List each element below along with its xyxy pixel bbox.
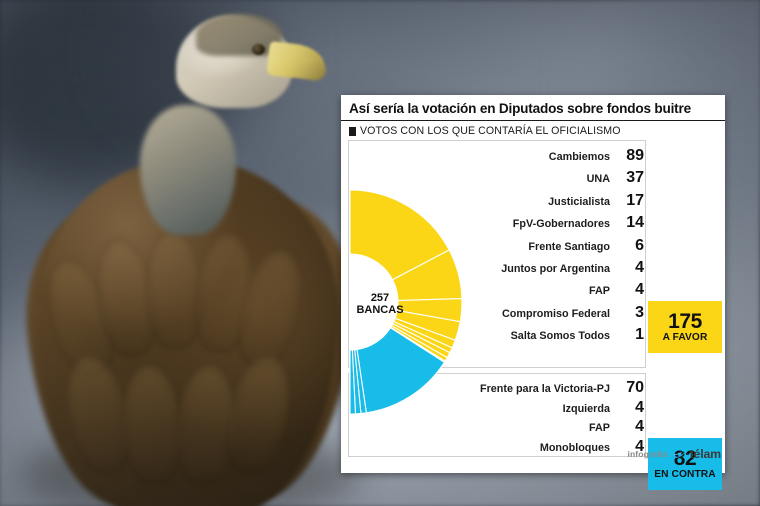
result-contra-label: EN CONTRA	[654, 470, 715, 480]
result-favor-value: 175	[668, 311, 702, 332]
legend-row-label: Frente para la Victoria-PJ	[480, 383, 610, 395]
legend-row-value: 4	[610, 418, 644, 436]
legend-row: Cambiemos89	[422, 147, 644, 169]
legend-row: FpV-Gobernadores14	[422, 214, 644, 236]
legend-row-value: 14	[610, 214, 644, 232]
footer-credit: infografía télam	[627, 447, 721, 461]
legend-row: UNA37	[422, 169, 644, 191]
legend-row-label: UNA	[587, 173, 610, 185]
legend-row-value: 70	[610, 379, 644, 397]
legend-row-label: FAP	[589, 285, 610, 297]
legend-row: Salta Somos Todos1	[422, 326, 644, 348]
footer-brand-label: télam	[690, 447, 721, 461]
result-box-contra: 82 EN CONTRA	[648, 438, 722, 490]
square-bullet-icon	[349, 127, 356, 136]
legend-row: FAP4	[422, 418, 644, 438]
footer-credit-label: infografía	[627, 449, 667, 459]
legend-list-favor: Cambiemos89UNA37Justicialista17FpV-Gober…	[422, 147, 644, 349]
legend-row-value: 1	[610, 326, 644, 344]
legend-row-value: 4	[610, 259, 644, 277]
result-box-favor: 175 A FAVOR	[648, 301, 722, 353]
result-favor-label: A FAVOR	[663, 333, 708, 343]
legend-row-label: Cambiemos	[549, 151, 610, 163]
legend-row-value: 4	[610, 281, 644, 299]
card-body: 257 BANCAS Cambiemos89UNA37Justicialista…	[341, 140, 725, 463]
legend-row-value: 17	[610, 192, 644, 210]
card-subtitle: VOTOS CON LOS QUE CONTARÍA EL OFICIALISM…	[341, 121, 725, 140]
legend-row-label: Juntos por Argentina	[501, 263, 610, 275]
legend-row: Compromiso Federal3	[422, 304, 644, 326]
legend-row-label: Compromiso Federal	[502, 308, 610, 320]
legend-row: Frente para la Victoria-PJ70	[422, 379, 644, 399]
legend-row-label: Frente Santiago	[528, 241, 610, 253]
page-title: Así sería la votación en Diputados sobre…	[341, 95, 725, 121]
legend-row-label: Justicialista	[548, 196, 610, 208]
legend-row-value: 37	[610, 169, 644, 187]
infographic-card: Así sería la votación en Diputados sobre…	[341, 95, 725, 473]
legend-row: Monobloques4	[422, 438, 644, 458]
legend-row-value: 3	[610, 304, 644, 322]
legend-row-value: 6	[610, 237, 644, 255]
legend-row: FAP4	[422, 281, 644, 303]
legend-row-label: Monobloques	[540, 442, 610, 454]
legend-row-label: FAP	[589, 422, 610, 434]
legend-row-label: Izquierda	[563, 403, 610, 415]
legend-row-label: Salta Somos Todos	[511, 330, 610, 342]
legend-row: Izquierda4	[422, 399, 644, 419]
legend-row: Juntos por Argentina4	[422, 259, 644, 281]
legend-list-contra: Frente para la Victoria-PJ70Izquierda4FA…	[422, 379, 644, 457]
legend-row-value: 89	[610, 147, 644, 165]
legend-row-label: FpV-Gobernadores	[513, 218, 610, 230]
card-subtitle-label: VOTOS CON LOS QUE CONTARÍA EL OFICIALISM…	[360, 125, 621, 137]
legend-row: Justicialista17	[422, 192, 644, 214]
telam-swoosh-icon	[671, 449, 687, 459]
legend-row: Frente Santiago6	[422, 237, 644, 259]
legend-row-value: 4	[610, 399, 644, 417]
